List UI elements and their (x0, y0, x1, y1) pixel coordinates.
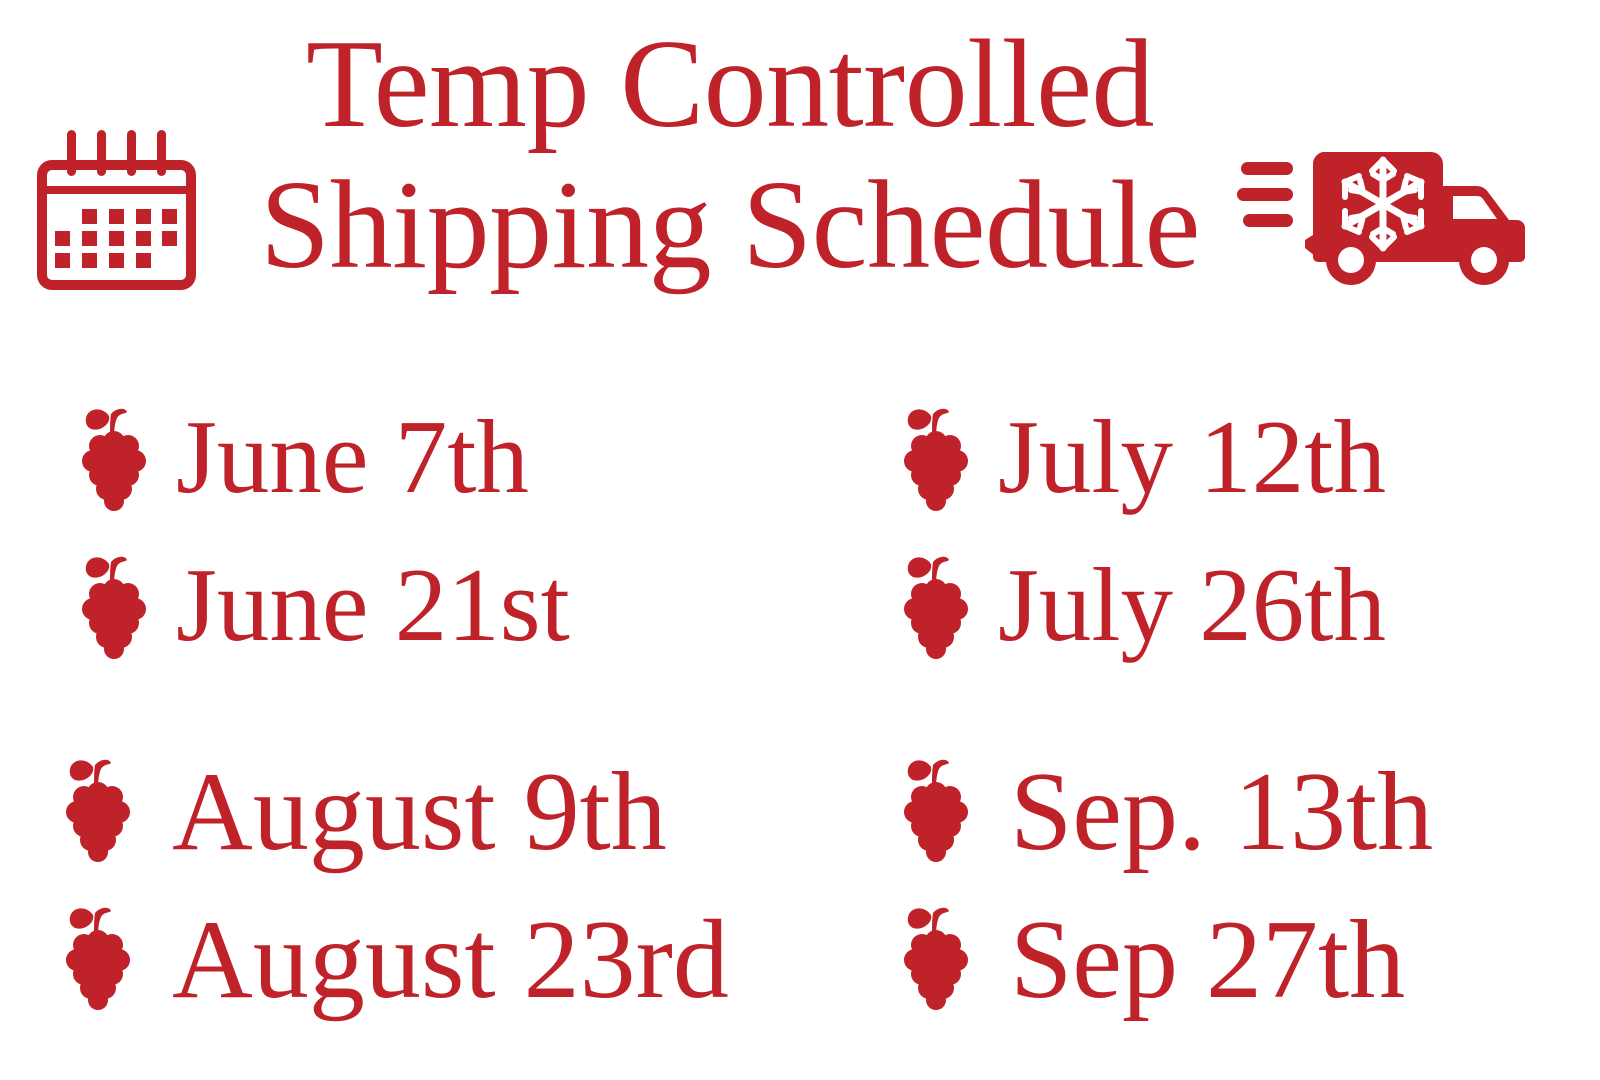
refrigerated-truck-icon (1237, 148, 1527, 288)
schedule-row: June 7th (78, 382, 800, 530)
grapes-icon (62, 755, 142, 873)
schedule-date: August 9th (172, 756, 667, 868)
schedule-date: August 23rd (172, 904, 729, 1016)
poster-header: Temp Controlled Shipping Schedule (0, 0, 1600, 330)
schedule-row: August 23rd (62, 886, 800, 1034)
schedule-row: Sep. 13th (900, 738, 1600, 886)
schedule-row: June 21st (78, 530, 800, 678)
schedule-row: July 12th (900, 382, 1600, 530)
schedule-group-2-column-left: August 9th (0, 738, 800, 1048)
schedule-group-2: August 9th (0, 738, 1600, 1048)
schedule-date: July 26th (998, 552, 1386, 657)
title-line-1: Temp Controlled (200, 14, 1260, 155)
schedule-group-1: June 7th (0, 382, 1600, 682)
calendar-icon (34, 130, 199, 290)
schedule-group-2-column-right: Sep. 13th (800, 738, 1600, 1048)
grapes-icon (62, 903, 142, 1021)
schedule-date: June 7th (176, 404, 529, 509)
schedule-row: August 9th (62, 738, 800, 886)
schedule-date: Sep 27th (1010, 904, 1405, 1016)
schedule-row: July 26th (900, 530, 1600, 678)
schedule-date: Sep. 13th (1010, 756, 1433, 868)
schedule-group-1-column-right: July 12th (800, 382, 1600, 682)
grapes-icon (900, 755, 980, 873)
grapes-icon (78, 552, 150, 660)
grapes-icon (900, 552, 972, 660)
title-line-2: Shipping Schedule (200, 155, 1260, 296)
grapes-icon (78, 404, 150, 512)
schedule-date: June 21st (176, 552, 570, 657)
schedule-group-1-column-left: June 7th (0, 382, 800, 682)
poster-title: Temp Controlled Shipping Schedule (200, 14, 1260, 296)
schedule-row: Sep 27th (900, 886, 1600, 1034)
grapes-icon (900, 903, 980, 1021)
schedule-date: July 12th (998, 404, 1386, 509)
shipping-schedule-poster: Temp Controlled Shipping Schedule (0, 0, 1600, 1080)
grapes-icon (900, 404, 972, 512)
